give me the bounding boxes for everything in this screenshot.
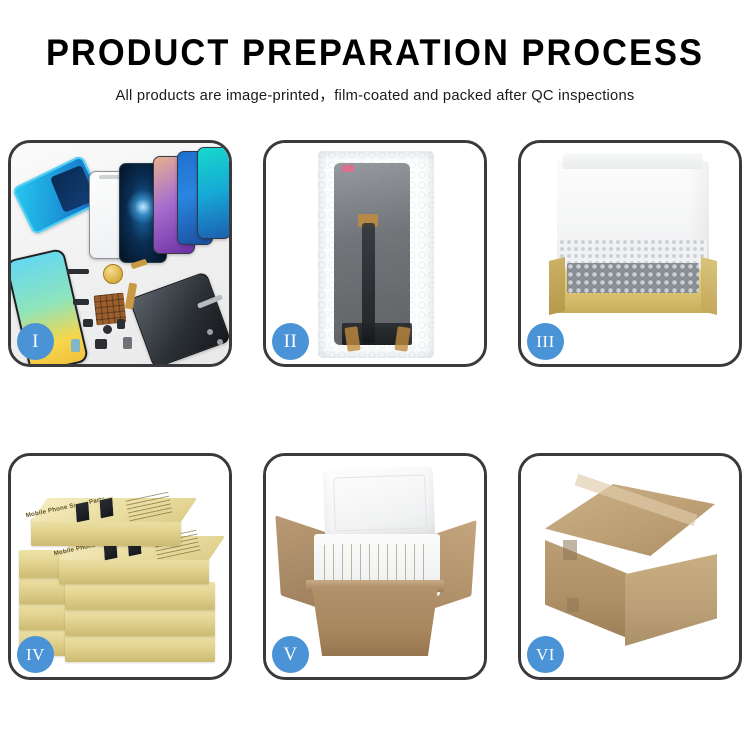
part-small-4 — [103, 325, 112, 334]
shipping-box-front — [545, 540, 627, 638]
tape-patch-upper — [563, 540, 577, 560]
step-badge-3: III — [527, 323, 564, 360]
part-phone-housing — [129, 271, 229, 364]
step-panel-4: Mobile Phone Spare Parts Mobile Phone Sp… — [8, 453, 232, 680]
step-panel-3: III — [518, 140, 742, 367]
part-small-1 — [67, 269, 89, 274]
shipping-box-side — [625, 554, 717, 646]
gold-box-printed-2: Mobile Phone Spare Parts — [59, 556, 209, 584]
step-badge-5: V — [272, 636, 309, 673]
step-panel-6: VI — [518, 453, 742, 680]
gold-box-screen-img-1b — [98, 496, 114, 519]
carton-body — [312, 588, 438, 656]
part-small-8 — [123, 337, 132, 349]
part-speaker-coil — [103, 264, 123, 284]
lcd-tab-right — [394, 326, 410, 352]
gold-box-stack: Mobile Phone Spare Parts Mobile Phone Sp… — [19, 478, 223, 664]
pink-label-tag — [342, 165, 354, 172]
page-subtitle: All products are image-printed，film-coat… — [11, 83, 739, 105]
gold-box-screen-img-1a — [74, 500, 90, 523]
gold-box-r5 — [65, 634, 215, 662]
header: PRODUCT PREPARATION PROCESS All products… — [0, 0, 750, 105]
step-panel-1: I — [8, 140, 232, 367]
page-title: PRODUCT PREPARATION PROCESS — [26, 34, 724, 73]
part-screw-2 — [217, 339, 223, 345]
gold-box-r3 — [65, 582, 215, 610]
part-small-5 — [117, 319, 125, 329]
part-small-7 — [95, 339, 107, 349]
part-cyan-phone — [197, 147, 229, 239]
part-small-6 — [71, 339, 80, 352]
gold-box-printed-1: Mobile Phone Spare Parts — [31, 518, 181, 546]
product-preparation-infographic: PRODUCT PREPARATION PROCESS All products… — [0, 0, 750, 750]
step-panel-2: II — [263, 140, 487, 367]
step-badge-6: VI — [527, 636, 564, 673]
grey-bubble-wrapped-product — [567, 263, 699, 293]
part-screw-1 — [207, 329, 213, 335]
tape-patch-lower — [567, 598, 579, 612]
foam-lid-open — [323, 466, 435, 542]
step-badge-4: IV — [17, 636, 54, 673]
step-panel-5: V — [263, 453, 487, 680]
bubble-wrap-bag — [318, 151, 434, 358]
step-badge-2: II — [272, 323, 309, 360]
part-small-3 — [83, 319, 93, 327]
steps-grid: I II — [8, 140, 742, 680]
gold-box-r4 — [65, 608, 215, 636]
step-badge-1: I — [17, 323, 54, 360]
part-small-2 — [73, 299, 89, 305]
